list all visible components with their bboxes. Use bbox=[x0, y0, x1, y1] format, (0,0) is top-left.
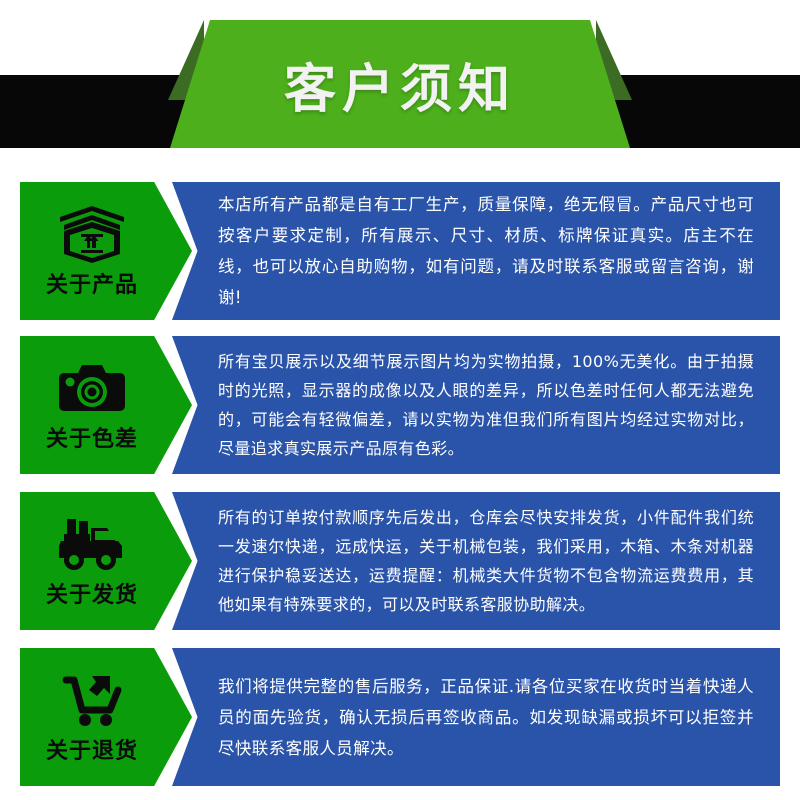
return-cart-icon bbox=[55, 669, 129, 731]
section-body-text: 我们将提供完整的售后服务，正品保证.请各位买家在收货时当着快递人员的面先验货，确… bbox=[218, 671, 754, 764]
section-text-panel: 所有的订单按付款顺序先后发出，仓库会尽快安排发货，小件配件我们统一发速尔快递，远… bbox=[172, 492, 780, 630]
delivery-truck-icon bbox=[55, 513, 129, 575]
section-text-panel: 本店所有产品都是自有工厂生产，质量保障，绝无假冒。产品尺寸也可按客户要求定制，所… bbox=[172, 182, 780, 320]
section-body-text: 本店所有产品都是自有工厂生产，质量保障，绝无假冒。产品尺寸也可按客户要求定制，所… bbox=[218, 189, 754, 313]
section-badge[interactable]: 关于色差 bbox=[20, 336, 192, 474]
header-banner: 客户须知 bbox=[0, 0, 800, 160]
section-label: 关于退货 bbox=[46, 733, 138, 765]
section-badge[interactable]: 关于发货 bbox=[20, 492, 192, 630]
customer-notice-page: 客户须知 bbox=[0, 0, 800, 800]
section-badge[interactable]: 关于产品 bbox=[20, 182, 192, 320]
section-text-panel: 所有宝贝展示以及细节展示图片均为实物拍摄，100%无美化。由于拍摄时的光照，显示… bbox=[172, 336, 780, 474]
section-about-color: 关于色差 所有宝贝展示以及细节展示图片均为实物拍摄，100%无美化。由于拍摄时的… bbox=[0, 336, 800, 474]
section-label: 关于色差 bbox=[46, 421, 138, 453]
section-label: 关于产品 bbox=[46, 267, 138, 299]
camera-icon bbox=[55, 357, 129, 419]
section-label: 关于发货 bbox=[46, 577, 138, 609]
section-body-text: 所有的订单按付款顺序先后发出，仓库会尽快安排发货，小件配件我们统一发速尔快递，远… bbox=[218, 503, 754, 619]
section-about-shipping: 关于发货 所有的订单按付款顺序先后发出，仓库会尽快安排发货，小件配件我们统一发速… bbox=[0, 492, 800, 630]
package-box-icon bbox=[55, 203, 129, 265]
section-body-text: 所有宝贝展示以及细节展示图片均为实物拍摄，100%无美化。由于拍摄时的光照，显示… bbox=[218, 347, 754, 463]
section-about-product: 关于产品 本店所有产品都是自有工厂生产，质量保障，绝无假冒。产品尺寸也可按客户要… bbox=[0, 182, 800, 320]
page-title: 客户须知 bbox=[170, 20, 630, 148]
section-about-returns: 关于退货 我们将提供完整的售后服务，正品保证.请各位买家在收货时当着快递人员的面… bbox=[0, 648, 800, 786]
section-badge[interactable]: 关于退货 bbox=[20, 648, 192, 786]
section-text-panel: 我们将提供完整的售后服务，正品保证.请各位买家在收货时当着快递人员的面先验货，确… bbox=[172, 648, 780, 786]
